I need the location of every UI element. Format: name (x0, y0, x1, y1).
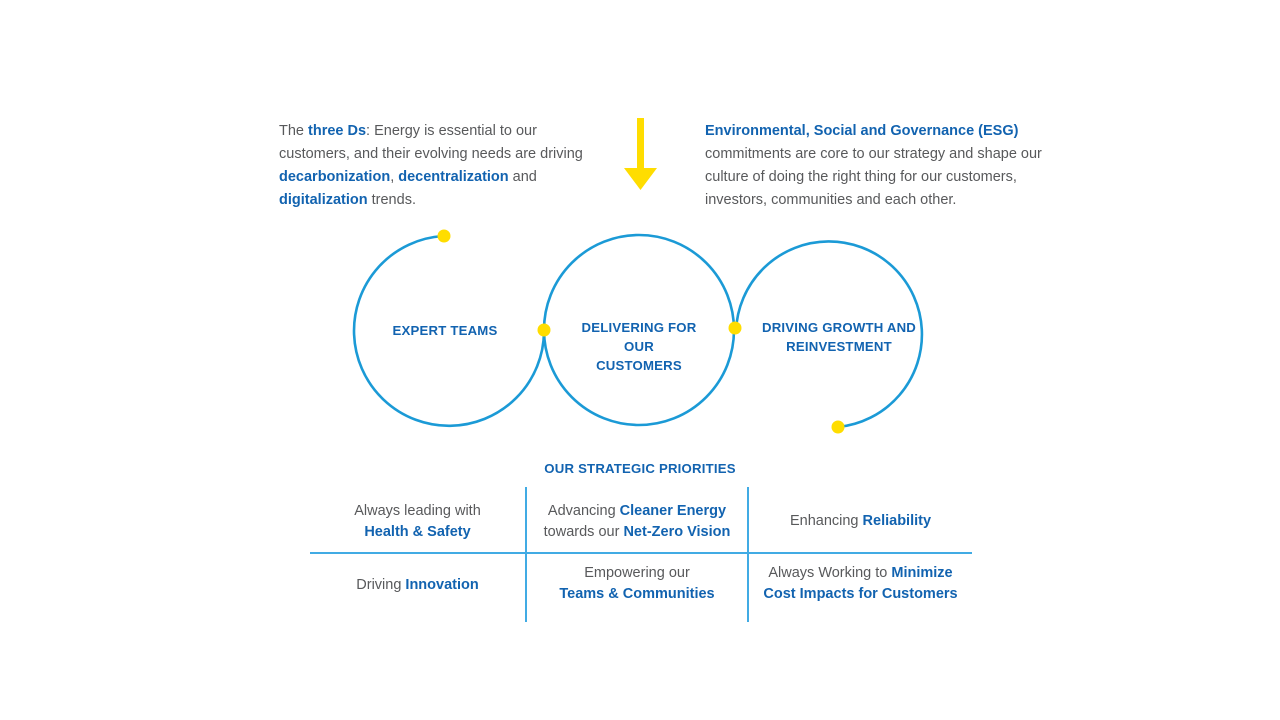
intro-left-term-digitalization: digitalization (279, 192, 368, 208)
priority-3-bold: Reliability (863, 513, 932, 529)
intro-text-left: The three Ds: Energy is essential to our… (279, 120, 591, 212)
circle-label-delivering-line1: DELIVERING FOR OUR (566, 318, 712, 356)
strategic-priorities-title: OUR STRATEGIC PRIORITIES (440, 461, 840, 476)
intro-left-bold-three-ds: three Ds (308, 123, 366, 139)
circle-label-delivering-line2: CUSTOMERS (566, 356, 712, 375)
priority-5-bold: Teams & Communities (559, 586, 714, 602)
intro-left-term-decarbonization: decarbonization (279, 169, 390, 185)
intro-text-right: Environmental, Social and Governance (ES… (705, 120, 1050, 212)
priority-cell-cost-impacts: Always Working to Minimize Cost Impacts … (749, 563, 972, 605)
priority-4-plain: Driving (356, 577, 405, 593)
priority-cell-health-safety: Always leading with Health & Safety (310, 501, 525, 543)
intro-left-sep-2: and (509, 169, 537, 185)
priority-6-bold-2: Cost Impacts for Customers (763, 586, 957, 602)
priority-cell-cleaner-energy: Advancing Cleaner Energy towards our Net… (527, 501, 747, 543)
circle-label-driving-growth-line2: REINVESTMENT (756, 337, 922, 356)
dot-junction-left (538, 324, 551, 337)
priority-cell-teams-communities: Empowering our Teams & Communities (527, 563, 747, 605)
circle-label-delivering: DELIVERING FOR OUR CUSTOMERS (566, 318, 712, 375)
intro-left-term-decentralization: decentralization (398, 169, 508, 185)
priority-5-plain: Empowering our (584, 565, 690, 581)
intro-right-body: commitments are core to our strategy and… (705, 146, 1042, 208)
priority-2-bold-1: Cleaner Energy (620, 503, 726, 519)
priority-2-plain-mid: towards our (544, 524, 624, 540)
priority-2-plain-lead: Advancing (548, 503, 620, 519)
circle-label-driving-growth-line1: DRIVING GROWTH AND (756, 318, 922, 337)
priority-cell-reliability: Enhancing Reliability (749, 511, 972, 532)
strategic-priorities-grid: Always leading with Health & Safety Adva… (310, 487, 972, 622)
grid-horizontal-divider (310, 552, 972, 554)
priority-cell-innovation: Driving Innovation (310, 575, 525, 596)
down-arrow-icon (620, 118, 662, 196)
priority-6-plain: Always Working to (768, 565, 891, 581)
circle-label-driving-growth: DRIVING GROWTH AND REINVESTMENT (756, 318, 922, 356)
priority-3-plain: Enhancing (790, 513, 863, 529)
infographic-canvas: The three Ds: Energy is essential to our… (0, 0, 1280, 720)
priority-4-bold: Innovation (405, 577, 478, 593)
intro-left-lead: The (279, 123, 308, 139)
priority-1-bold: Health & Safety (364, 524, 470, 540)
intro-right-bold-esg: Environmental, Social and Governance (ES… (705, 123, 1018, 139)
dot-junction-right (729, 322, 742, 335)
circle-label-expert-teams: EXPERT TEAMS (380, 321, 510, 340)
priority-2-bold-2: Net-Zero Vision (623, 524, 730, 540)
intro-left-tail: trends. (368, 192, 416, 208)
dot-end-driving-growth (832, 421, 845, 434)
dot-start-expert-teams (438, 230, 451, 243)
priority-1-plain: Always leading with (354, 503, 481, 519)
priority-6-bold-1: Minimize (891, 565, 952, 581)
